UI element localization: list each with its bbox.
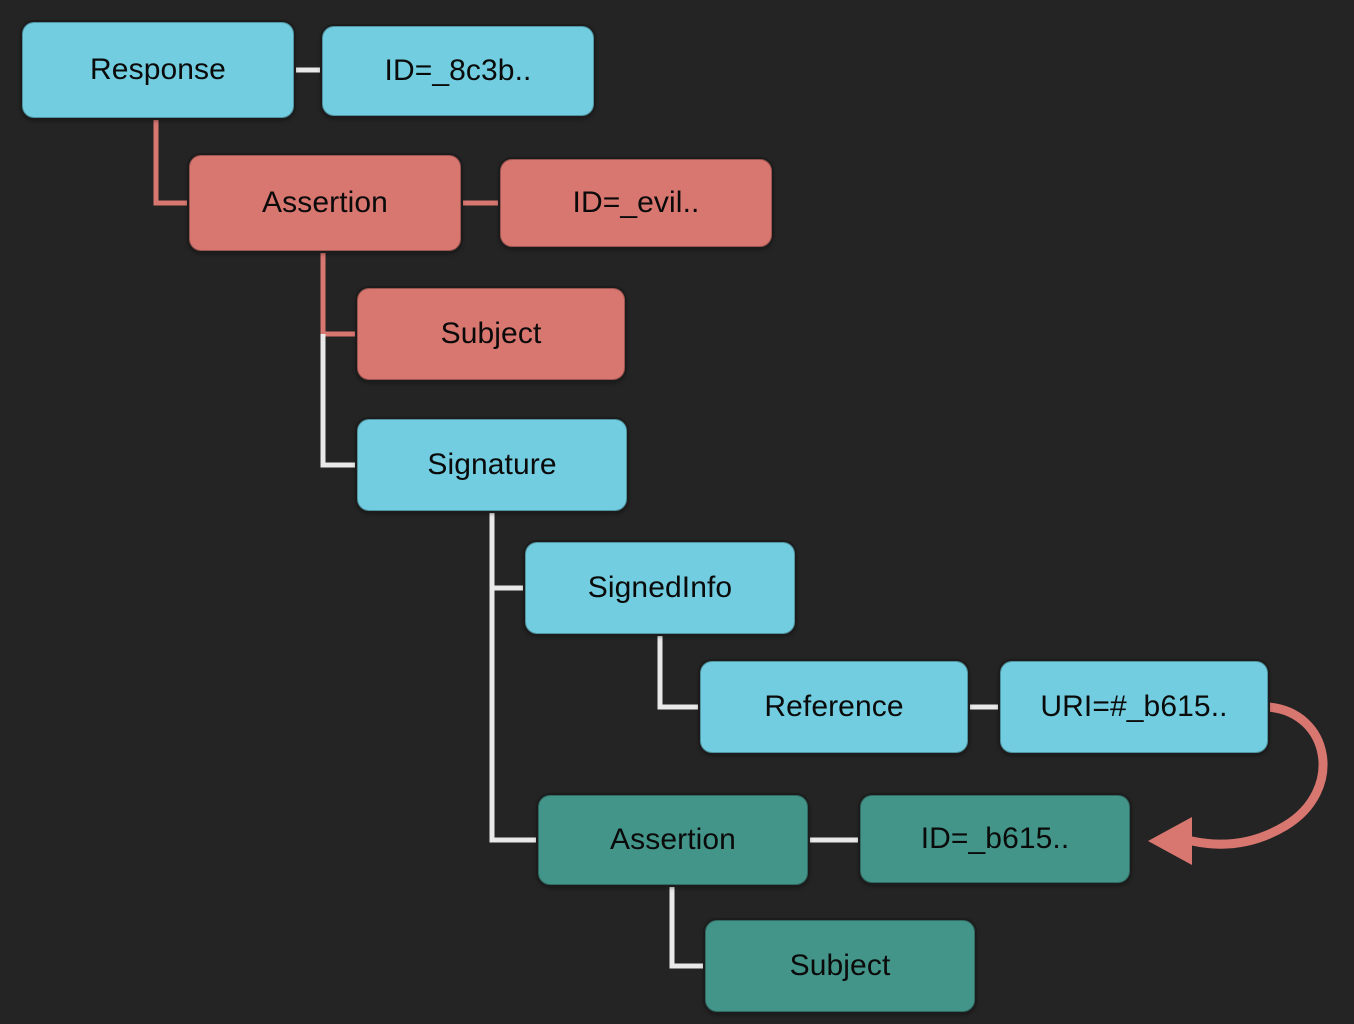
node-label-assertion_evil: Assertion: [262, 188, 388, 218]
node-response[interactable]: Response: [22, 22, 294, 118]
connector-signedinfo-to-reference: [660, 634, 700, 707]
node-assertion_good[interactable]: Assertion: [538, 795, 808, 885]
node-label-assertion_good: Assertion: [610, 825, 736, 855]
node-assertion_evil[interactable]: Assertion: [189, 155, 461, 251]
node-label-subject_evil: Subject: [441, 319, 542, 349]
node-label-reference: Reference: [764, 692, 903, 722]
node-reference[interactable]: Reference: [700, 661, 968, 753]
node-label-response: Response: [90, 55, 226, 85]
connector-response-to-assertion: [156, 118, 189, 203]
node-assertion_good_id[interactable]: ID=_b615..: [860, 795, 1130, 883]
node-assertion_evil_id[interactable]: ID=_evil..: [500, 159, 772, 247]
node-label-signature: Signature: [427, 450, 556, 480]
connector-signature-to-signedinfo: [492, 511, 525, 588]
connector-assertion-to-signature: [323, 334, 357, 465]
node-label-assertion_good_id: ID=_b615..: [921, 824, 1070, 854]
node-signature[interactable]: Signature: [357, 419, 627, 511]
connector-assertion-good-to-subject: [672, 885, 705, 966]
node-label-subject_good: Subject: [790, 951, 891, 981]
node-subject_evil[interactable]: Subject: [357, 288, 625, 380]
node-label-signedinfo: SignedInfo: [588, 573, 732, 603]
diagram-canvas: ResponseID=_8c3b..AssertionID=_evil..Sub…: [0, 0, 1354, 1024]
node-uri[interactable]: URI=#_b615..: [1000, 661, 1268, 753]
node-subject_good[interactable]: Subject: [705, 920, 975, 1012]
connector-assertion-to-subject: [323, 251, 357, 334]
arrowhead-uri-points-to-assertion-id: [1148, 817, 1192, 865]
node-signedinfo[interactable]: SignedInfo: [525, 542, 795, 634]
node-label-uri: URI=#_b615..: [1040, 692, 1227, 722]
node-label-assertion_evil_id: ID=_evil..: [573, 188, 700, 218]
node-response_id[interactable]: ID=_8c3b..: [322, 26, 594, 116]
node-label-response_id: ID=_8c3b..: [385, 56, 532, 86]
